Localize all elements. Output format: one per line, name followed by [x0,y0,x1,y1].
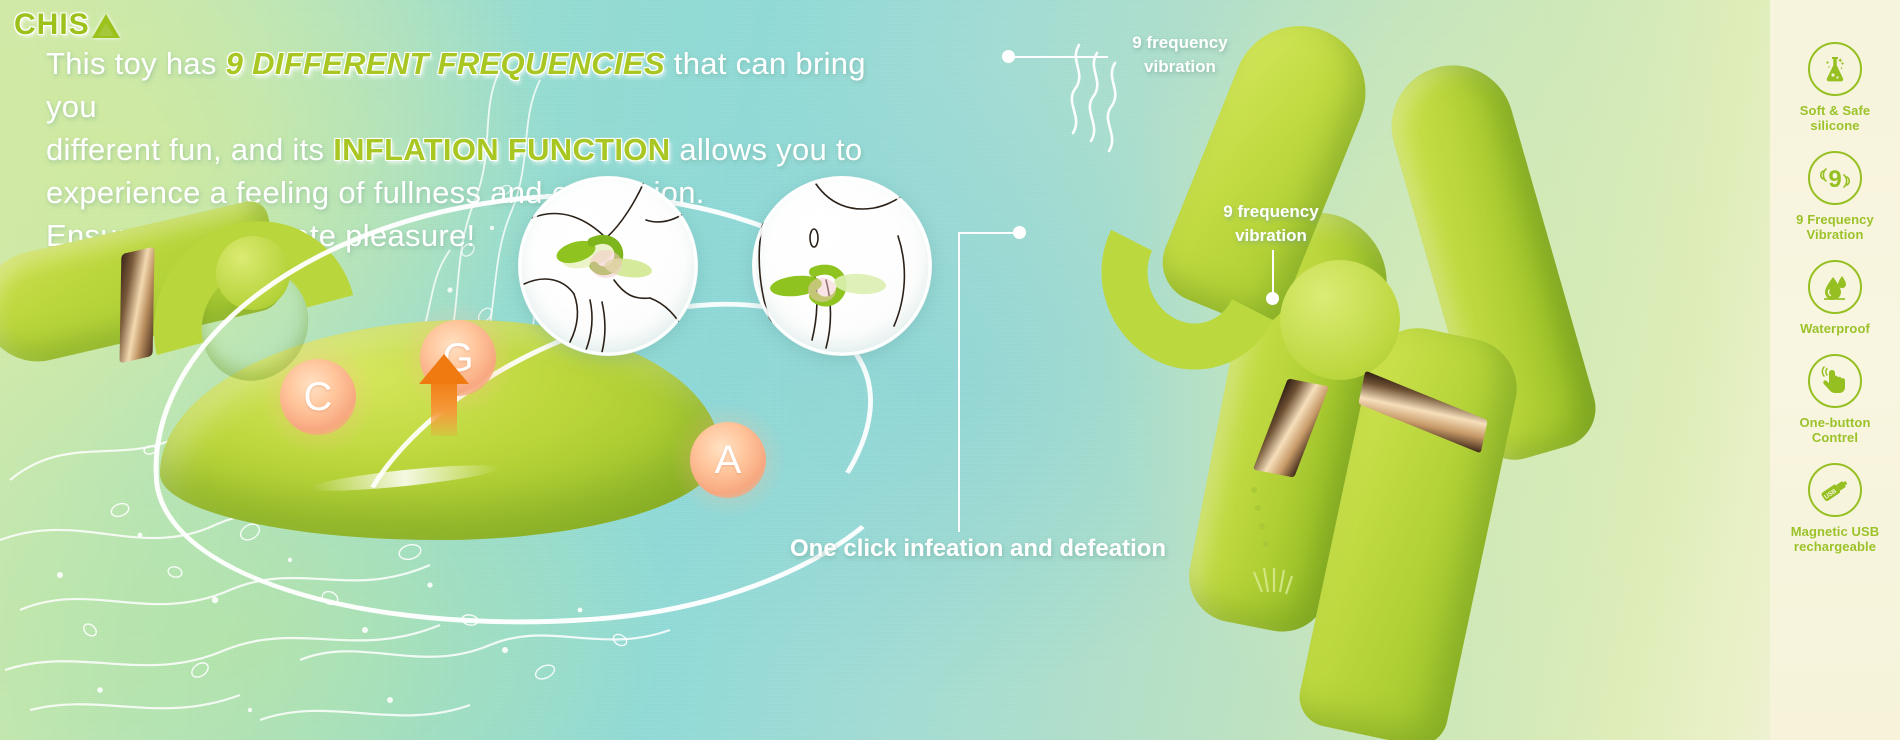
feature-label-frequency-line-2: Vibration [1796,227,1874,242]
feature-label-usb-line-1: Magnetic USB [1791,524,1880,539]
headline-line-1-part-a: This toy has [46,46,226,81]
marker-c-letter: C [304,375,333,420]
callout-mid-vibration-line-1: 9 frequency [1196,200,1346,224]
headline-line-1: This toy has 9 DIFFERENT FREQUENCIES tha… [46,42,886,128]
feature-label-silicone-line-1: Soft & Safe [1800,103,1870,118]
callout-top-vibration-line-2: vibration [1110,55,1250,79]
inflation-arrow-icon [431,380,457,436]
callout-mid-leader-line [1272,250,1274,296]
feature-item-silicone: Soft & Safe silicone [1775,42,1895,133]
callout-bottom-leader-horizontal [958,232,1018,234]
headline-emphasis-inflation: INFLATION FUNCTION [333,132,670,167]
feature-label-one-button: One-button Contrel [1799,415,1870,445]
touch-icon [1808,354,1862,408]
feature-label-silicone: Soft & Safe silicone [1800,103,1870,133]
droplet-icon [1808,260,1862,314]
feature-label-silicone-line-2: silicone [1800,118,1870,133]
callout-mid-vibration-line-2: vibration [1196,224,1346,248]
headline-line-2-part-b: allows you to [670,132,862,167]
usage-illustration-side [752,176,932,356]
feature-item-one-button: One-button Contrel [1775,354,1895,445]
svg-text:9: 9 [1828,166,1841,193]
product-control-dots [1238,480,1298,605]
marker-a-letter: A [715,438,742,483]
feature-label-waterproof: Waterproof [1800,321,1870,336]
callout-bottom-leader-vertical [958,232,960,532]
callout-top-leader-line [1012,56,1108,58]
feature-label-usb-line-2: rechargeable [1791,539,1880,554]
callout-bottom-caption: One click infeation and defeation [790,535,1166,563]
headline-emphasis-frequencies: 9 DIFFERENT FREQUENCIES [226,46,665,81]
banner-stage: CHIS This toy has 9 DIFFERENT FREQUENCIE… [0,0,1900,740]
product-main-arm-tip [216,236,290,310]
nine-icon: 9 [1808,151,1862,205]
usb-icon: USB [1808,463,1862,517]
brand-logo: CHIS [14,8,120,42]
feature-label-frequency-line-1: 9 Frequency [1796,212,1874,227]
feature-label-usb: Magnetic USB rechargeable [1791,524,1880,554]
brand-logo-text: CHIS [14,8,90,42]
callout-top-vibration: 9 frequency vibration [1110,31,1250,79]
feature-item-frequency: 9 9 Frequency Vibration [1775,151,1895,242]
product-main-gold-band [119,247,154,364]
product-render-2-arm [1280,260,1400,380]
headline-line-2-part-a: different fun, and its [46,132,333,167]
product-render-group [1130,0,1750,740]
flask-icon [1808,42,1862,96]
callout-mid-vibration: 9 frequency vibration [1196,200,1346,248]
headline-line-2: different fun, and its INFLATION FUNCTIO… [46,128,886,171]
usage-illustration-front [518,176,698,356]
marker-a: A [690,422,766,498]
feature-sidebar: Soft & Safe silicone 9 9 Frequency [1770,0,1900,740]
marker-c: C [280,359,356,435]
feature-item-waterproof: Waterproof [1775,260,1895,336]
callout-top-vibration-line-1: 9 frequency [1110,31,1250,55]
feature-label-one-button-line-1: One-button [1799,415,1870,430]
feature-label-waterproof-line-1: Waterproof [1800,321,1870,336]
feature-label-one-button-line-2: Contrel [1799,430,1870,445]
feature-item-usb: USB Magnetic USB rechargeable [1775,463,1895,554]
feature-label-frequency: 9 Frequency Vibration [1796,212,1874,242]
chisa-triangle-logo-icon [92,14,120,38]
